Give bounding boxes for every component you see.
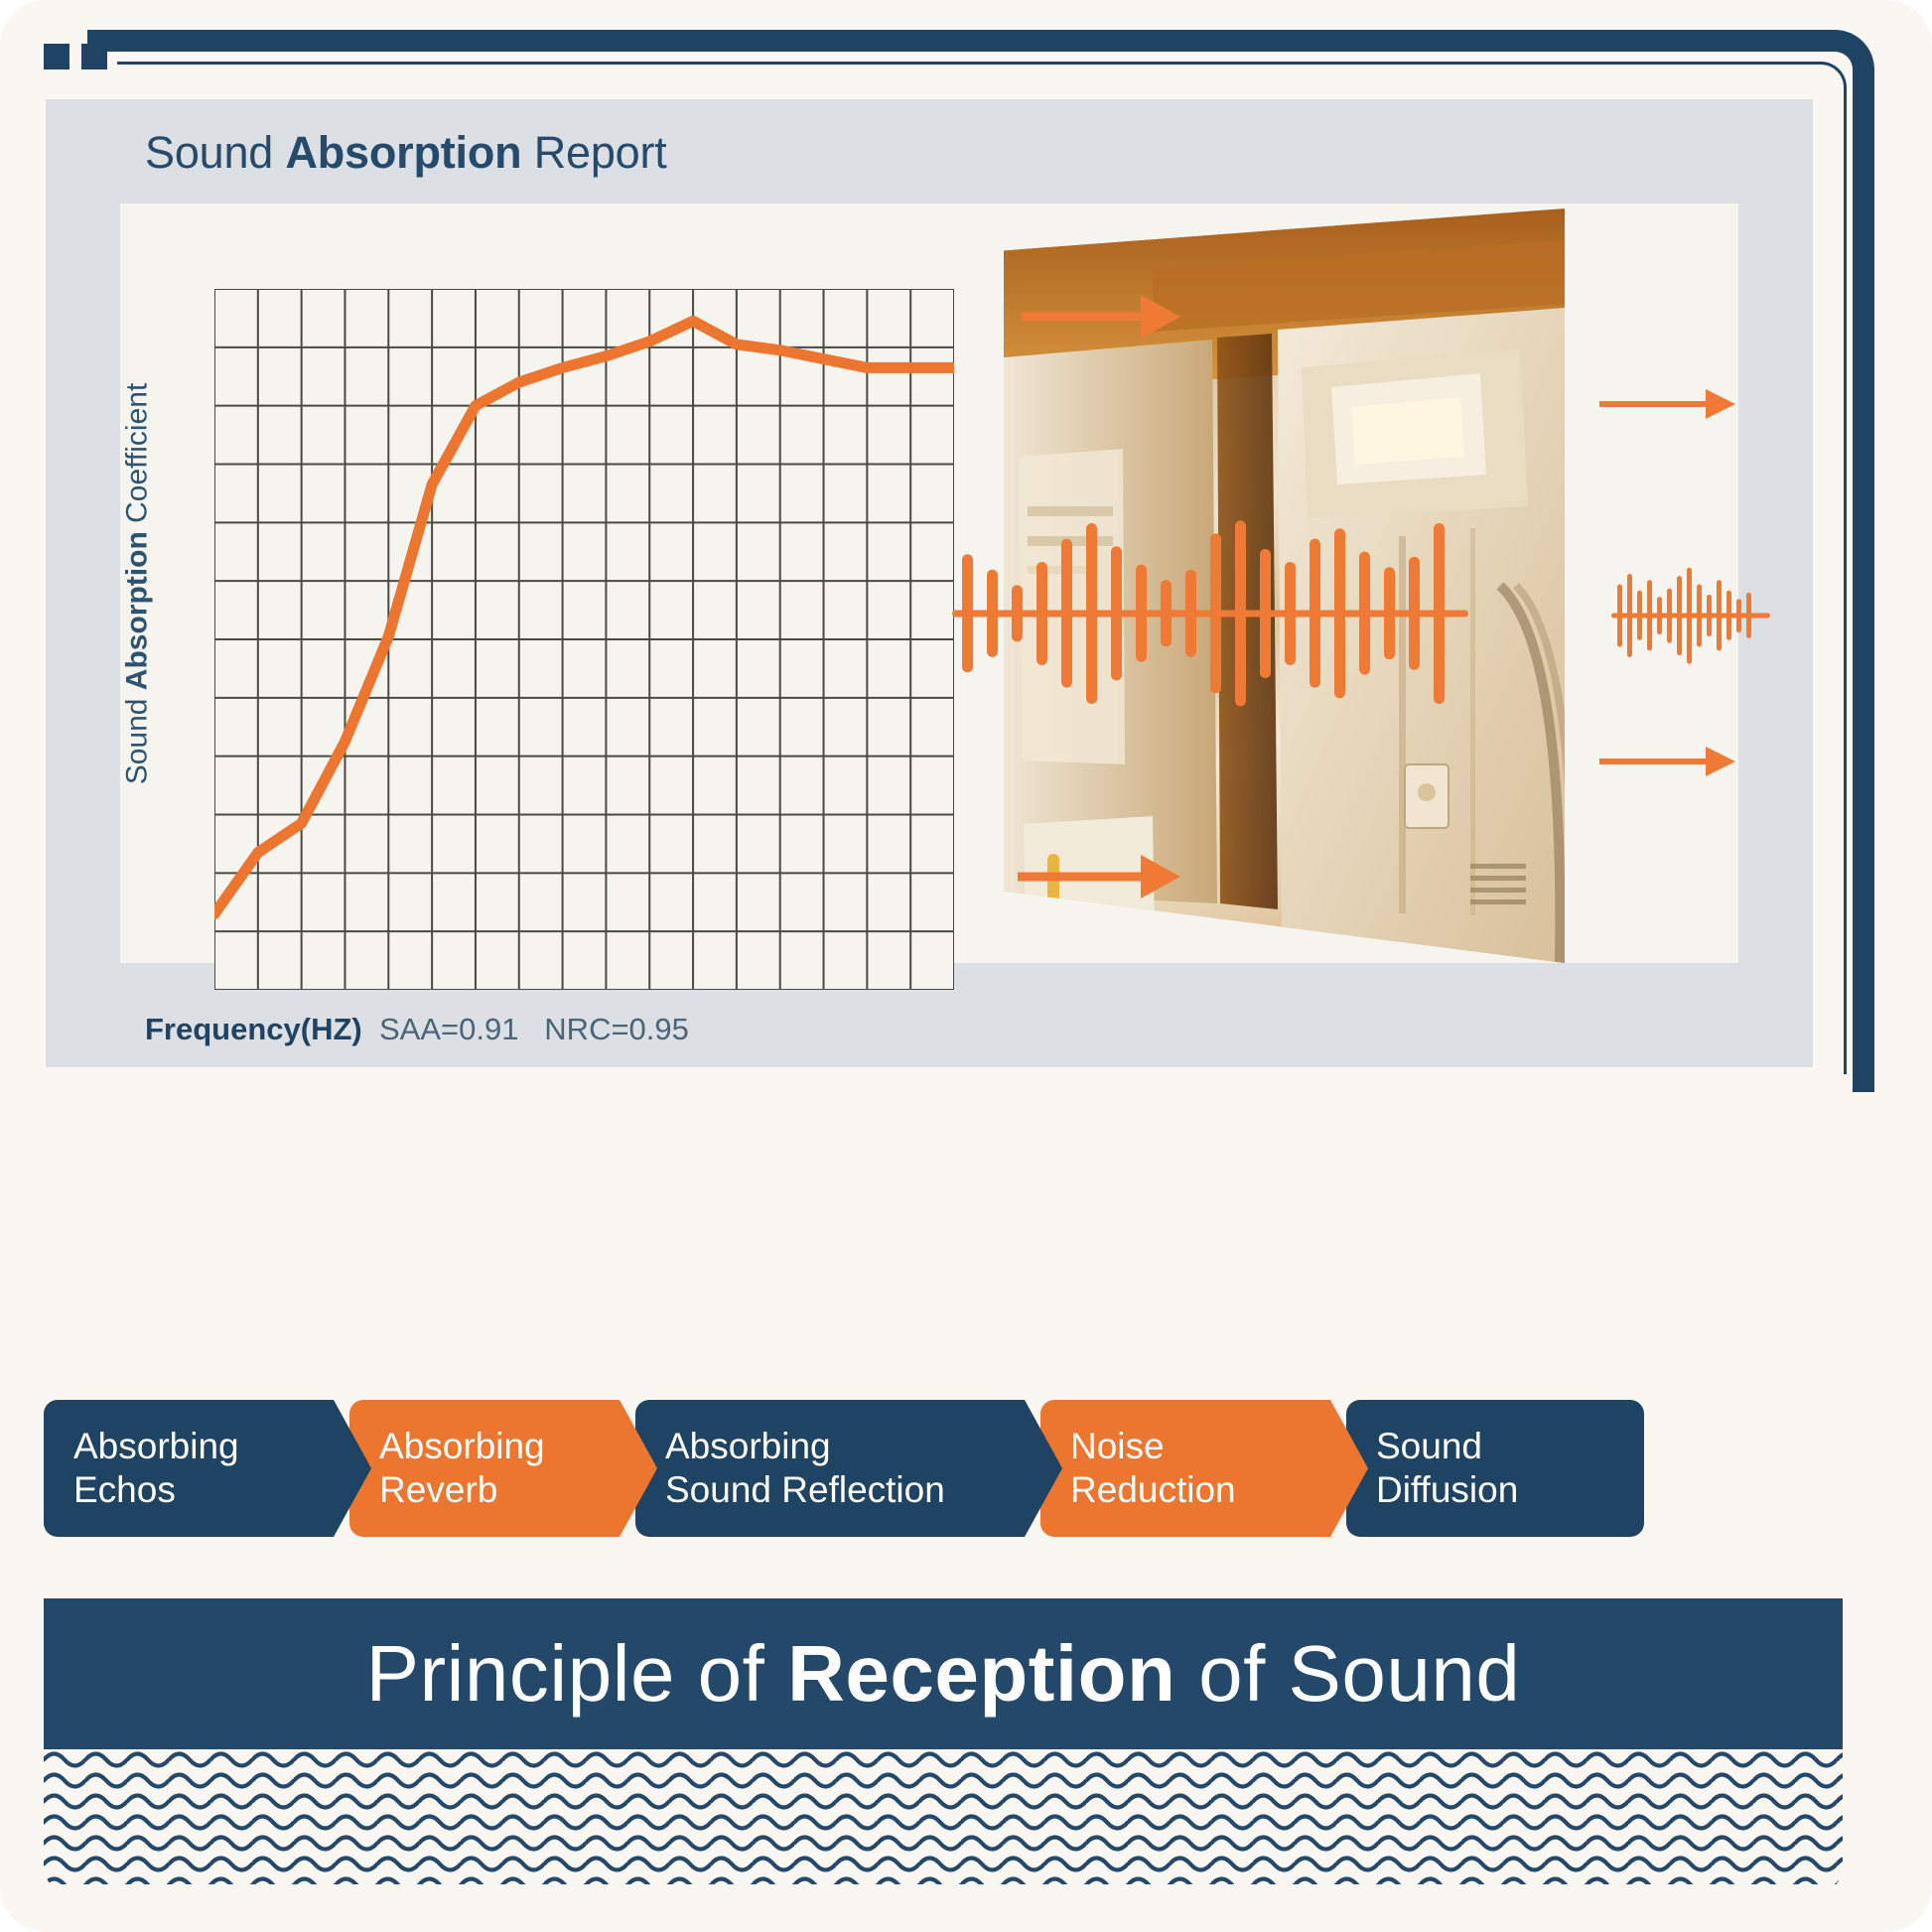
feature-tag-echos[interactable]: AbsorbingEchos xyxy=(44,1400,371,1537)
feature-tag-reduction[interactable]: NoiseReduction xyxy=(1040,1400,1368,1537)
waveform-bar xyxy=(1036,562,1047,665)
chart-footer: Frequency(HZ) SAA=0.91 NRC=0.95 xyxy=(145,1012,689,1047)
bottom-banner: Principle of Reception of Sound xyxy=(44,1598,1843,1749)
waveform-large-icon xyxy=(952,506,1468,720)
waveform-bar-small xyxy=(1657,597,1662,634)
feature-tag-sound-reflection[interactable]: AbsorbingSound Reflection xyxy=(635,1400,1062,1537)
waveform-bar xyxy=(987,569,998,656)
waveform-bar xyxy=(1185,569,1196,656)
page-title: Sound Absorption Report xyxy=(145,127,667,179)
nrc-value: NRC=0.95 xyxy=(544,1012,689,1046)
reflection-arrow-bottom-icon xyxy=(1018,864,1176,890)
feature-tag-line1: Absorbing xyxy=(665,1425,1017,1468)
reflection-arrow-top-icon xyxy=(1022,304,1176,330)
feature-tag-line2: Sound Reflection xyxy=(665,1468,1017,1512)
waveform-bar-small xyxy=(1697,585,1702,647)
feature-tag-line2: Diffusion xyxy=(1376,1468,1614,1512)
waveform-bar xyxy=(1111,546,1122,680)
waveform-bar xyxy=(1409,556,1420,669)
waveform-bar-small xyxy=(1637,591,1642,640)
waveform-bar xyxy=(1210,533,1221,693)
waveform-bar-small xyxy=(1717,580,1722,650)
banner-bold: Reception xyxy=(787,1629,1175,1718)
corner-square-1 xyxy=(44,44,69,69)
waveform-bar xyxy=(1260,549,1271,678)
feature-tag-line1: Sound xyxy=(1376,1425,1614,1468)
waveform-bar-small xyxy=(1667,589,1672,643)
report-title-bold: Absorption xyxy=(285,127,521,178)
y-axis-title-bold: Absorption xyxy=(120,531,153,690)
waveform-bar xyxy=(1434,523,1445,704)
feature-tag-line1: Absorbing xyxy=(73,1425,326,1468)
waveform-bar xyxy=(1334,528,1345,699)
waveform-bar xyxy=(962,554,973,673)
wave-pattern-svg xyxy=(44,1749,1843,1898)
waveform-bar xyxy=(1384,567,1395,660)
report-title-prefix: Sound xyxy=(145,127,285,178)
waveform-bar-small xyxy=(1726,591,1731,640)
waveform-bar xyxy=(1359,551,1370,675)
feature-tag-line2: Reduction xyxy=(1070,1468,1322,1512)
waveform-bar xyxy=(1136,564,1147,662)
x-axis-title: Frequency(HZ) xyxy=(145,1012,362,1046)
waveform-bar-small xyxy=(1687,568,1692,664)
y-axis-title: Sound Absorption Coefficient xyxy=(112,204,162,963)
waveform-bar xyxy=(1061,538,1072,688)
waveform-bar-small xyxy=(1627,574,1632,657)
feature-tag-line2: Echos xyxy=(73,1468,326,1512)
sound-escape-arrow-top-icon xyxy=(1599,392,1733,416)
wave-pattern-strip xyxy=(44,1749,1843,1898)
corner-square-2 xyxy=(81,44,107,69)
waveform-bar-small xyxy=(1617,585,1622,647)
feature-tag-line1: Noise xyxy=(1070,1425,1322,1468)
waveform-bar xyxy=(1285,562,1296,665)
banner-title: Principle of Reception of Sound xyxy=(366,1628,1521,1720)
plot-area: 1.21.110.90.80.70.60.50.40.30.20.1010012… xyxy=(214,289,954,990)
waveform-bar xyxy=(1235,520,1246,706)
saa-value: SAA=0.91 xyxy=(379,1012,518,1046)
feature-tag-row: AbsorbingEchosAbsorbingReverbAbsorbingSo… xyxy=(44,1400,1843,1537)
feature-tag-line2: Reverb xyxy=(379,1468,612,1512)
report-title-suffix: Report xyxy=(521,127,666,178)
waveform-bar-small xyxy=(1647,580,1652,650)
waveform-bar-small xyxy=(1677,576,1682,655)
y-axis-title-suffix: Coefficient xyxy=(120,382,153,531)
waveform-bar-small xyxy=(1707,595,1712,636)
banner-suffix: of Sound xyxy=(1175,1629,1520,1718)
waveform-bar xyxy=(1086,523,1097,704)
feature-tag-line1: Absorbing xyxy=(379,1425,612,1468)
plot-svg: 1.21.110.90.80.70.60.50.40.30.20.1010012… xyxy=(214,289,954,990)
cabin-photo-panel xyxy=(1004,208,1738,963)
waveform-bar xyxy=(1012,585,1023,641)
waveform-bar-small xyxy=(1736,599,1741,632)
sound-absorption-report-card: Sound Absorption Report Sound Absorption… xyxy=(46,99,1813,1067)
y-axis-title-prefix: Sound xyxy=(120,690,153,784)
waveform-small-icon xyxy=(1611,561,1770,670)
sound-escape-arrow-bottom-icon xyxy=(1599,750,1733,773)
waveform-bar xyxy=(1161,580,1172,647)
waveform-bar xyxy=(1310,538,1320,688)
feature-tag-diffusion[interactable]: SoundDiffusion xyxy=(1346,1400,1644,1537)
report-body: Sound Absorption Coefficient 1.21.110.90… xyxy=(120,204,1738,963)
feature-tag-reverb[interactable]: AbsorbingReverb xyxy=(349,1400,657,1537)
banner-prefix: Principle of xyxy=(366,1629,787,1718)
poster-root: Sound Absorption Report Sound Absorption… xyxy=(0,0,1932,1932)
waveform-bar-small xyxy=(1746,593,1751,638)
